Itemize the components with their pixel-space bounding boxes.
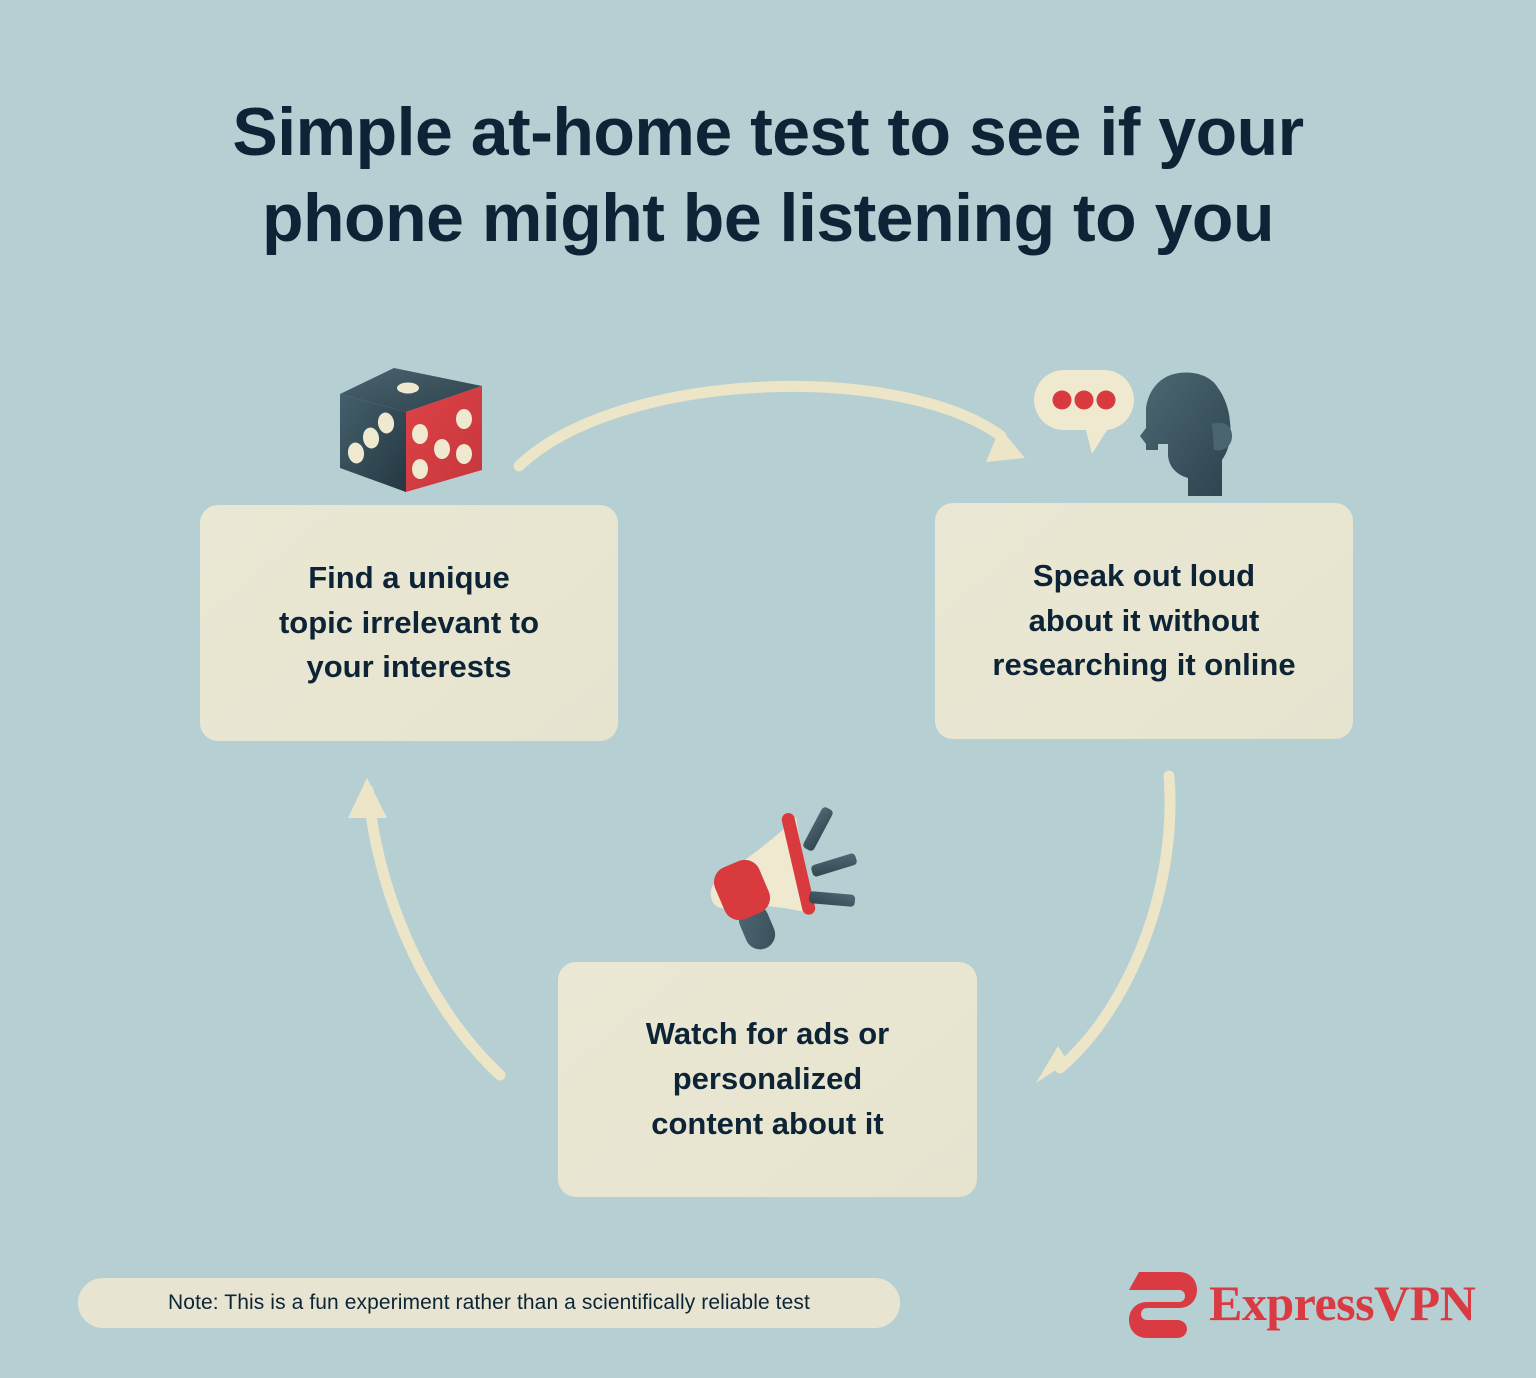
speaking-head-icon	[1022, 364, 1240, 498]
step-card-1-text: Find a unique topic irrelevant to your i…	[279, 556, 539, 691]
step-card-1[interactable]: Find a unique topic irrelevant to your i…	[200, 505, 618, 741]
expressvpn-e-mark-icon	[1125, 1266, 1199, 1340]
footer-note-text: Note: This is a fun experiment rather th…	[168, 1291, 810, 1315]
page-title-line-1: Simple at-home test to see if your	[130, 90, 1406, 176]
arrow-step1-to-step2	[519, 386, 1025, 466]
step-card-1-line-3: your interests	[279, 645, 539, 690]
page-title-line-2: phone might be listening to you	[130, 176, 1406, 262]
step-card-2[interactable]: Speak out loud about it without research…	[935, 503, 1353, 739]
page-title: Simple at-home test to see if your phone…	[130, 90, 1406, 261]
infographic-canvas: Simple at-home test to see if your phone…	[0, 0, 1536, 1378]
step-card-1-line-2: topic irrelevant to	[279, 601, 539, 646]
step-card-2-line-1: Speak out loud	[992, 554, 1295, 599]
step-card-2-text: Speak out loud about it without research…	[992, 554, 1295, 689]
footer-note-pill: Note: This is a fun experiment rather th…	[78, 1278, 900, 1328]
step-card-3-line-2: personalized	[646, 1057, 889, 1102]
step-card-3[interactable]: Watch for ads or personalized content ab…	[558, 962, 977, 1197]
expressvpn-logo[interactable]: ExpressVPN	[1125, 1262, 1475, 1344]
step-card-3-line-3: content about it	[646, 1102, 889, 1147]
step-card-3-text: Watch for ads or personalized content ab…	[646, 1012, 889, 1147]
dice-icon	[332, 364, 490, 496]
step-card-1-line-1: Find a unique	[279, 556, 539, 601]
head-profile-icon	[1140, 373, 1232, 496]
megaphone-icon	[700, 800, 880, 952]
arrow-step2-to-step3	[1036, 776, 1170, 1083]
step-card-2-line-2: about it without	[992, 599, 1295, 644]
arrow-step3-to-step1	[348, 778, 500, 1075]
step-card-2-line-3: researching it online	[992, 643, 1295, 688]
step-card-3-line-1: Watch for ads or	[646, 1012, 889, 1057]
speech-bubble-icon	[1034, 370, 1134, 454]
expressvpn-wordmark: ExpressVPN	[1209, 1278, 1475, 1328]
